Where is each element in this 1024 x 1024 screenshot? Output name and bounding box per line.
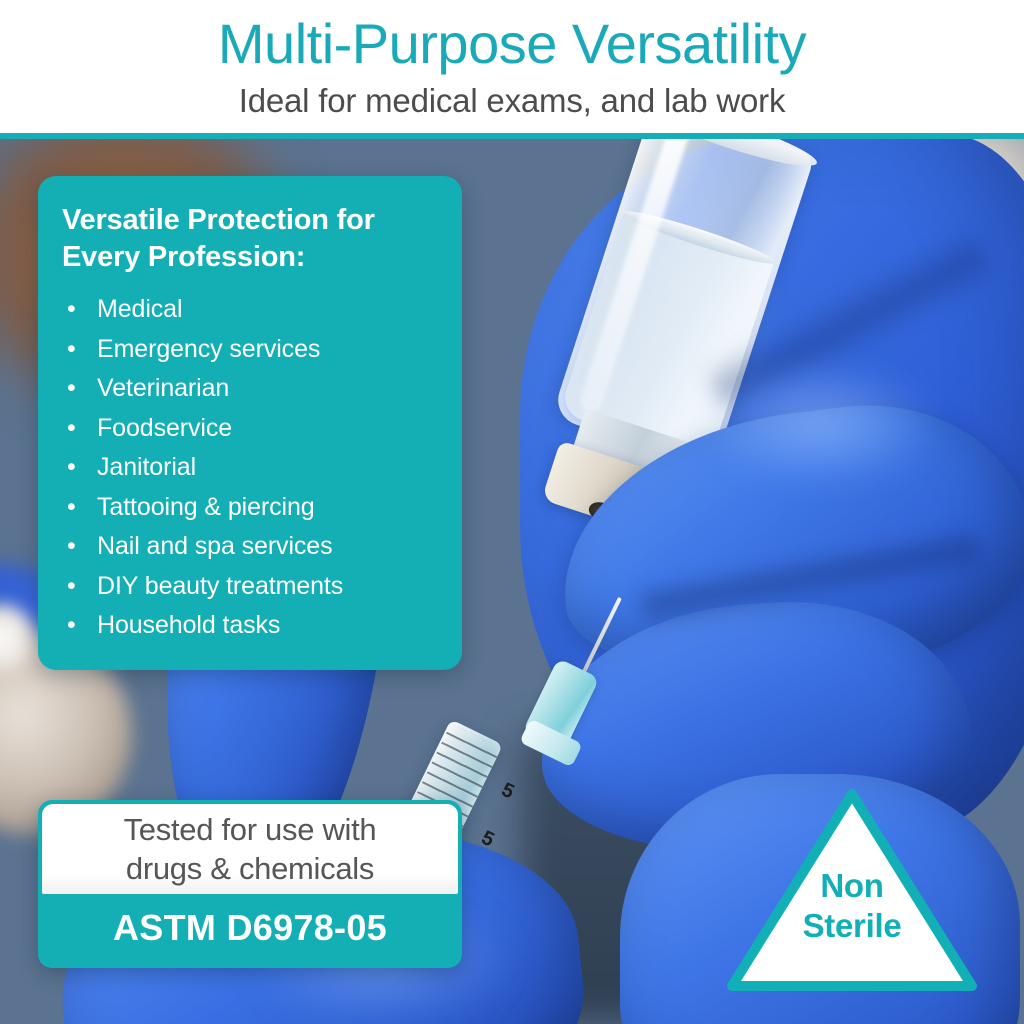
page-title: Multi-Purpose Versatility <box>0 0 1024 78</box>
list-item-label: Nail and spa services <box>97 527 333 567</box>
header-divider <box>0 133 1024 139</box>
list-item: • Emergency services <box>62 330 440 370</box>
list-item: • Tattooing & piercing <box>62 488 440 528</box>
list-item: • DIY beauty treatments <box>62 567 440 607</box>
glove-highlight-upper <box>700 364 940 484</box>
professions-panel: Versatile Protection for Every Professio… <box>38 176 462 670</box>
list-item-label: Veterinarian <box>97 369 229 409</box>
list-item-label: DIY beauty treatments <box>97 567 343 607</box>
list-item: • Janitorial <box>62 448 440 488</box>
list-item-label: Janitorial <box>97 448 196 488</box>
professions-list: • Medical • Emergency services • Veterin… <box>62 290 440 646</box>
astm-standard-code: ASTM D6978-05 <box>38 896 462 960</box>
list-item: • Medical <box>62 290 440 330</box>
bullet-icon: • <box>62 567 97 607</box>
bullet-icon: • <box>62 488 97 528</box>
bullet-icon: • <box>62 527 97 567</box>
list-item-label: Emergency services <box>97 330 320 370</box>
astm-caption-line-2: drugs & chemicals <box>126 849 374 888</box>
list-item-label: Tattooing & piercing <box>97 488 315 528</box>
header-banner: Multi-Purpose Versatility Ideal for medi… <box>0 0 1024 134</box>
syringe-scale-number: 5 <box>498 779 518 805</box>
list-item: • Nail and spa services <box>62 527 440 567</box>
triangle-icon <box>726 788 978 992</box>
non-sterile-badge: Non Sterile <box>726 788 978 992</box>
astm-caption-line-1: Tested for use with <box>124 810 377 849</box>
list-item: • Veterinarian <box>62 369 440 409</box>
professions-panel-title: Versatile Protection for Every Professio… <box>62 202 440 276</box>
bullet-icon: • <box>62 290 97 330</box>
list-item: • Foodservice <box>62 409 440 449</box>
bullet-icon: • <box>62 448 97 488</box>
list-item-label: Household tasks <box>97 606 280 646</box>
list-item-label: Foodservice <box>97 409 232 449</box>
astm-badge-caption: Tested for use with drugs & chemicals <box>42 804 458 894</box>
bullet-icon: • <box>62 369 97 409</box>
page-subtitle: Ideal for medical exams, and lab work <box>0 78 1024 122</box>
bullet-icon: • <box>62 409 97 449</box>
astm-badge: Tested for use with drugs & chemicals AS… <box>38 800 462 968</box>
bullet-icon: • <box>62 330 97 370</box>
list-item: • Household tasks <box>62 606 440 646</box>
list-item-label: Medical <box>97 290 182 330</box>
product-infographic: 5 5 5 Multi-Purpose Versatility Ideal fo… <box>0 0 1024 1024</box>
bullet-icon: • <box>62 606 97 646</box>
